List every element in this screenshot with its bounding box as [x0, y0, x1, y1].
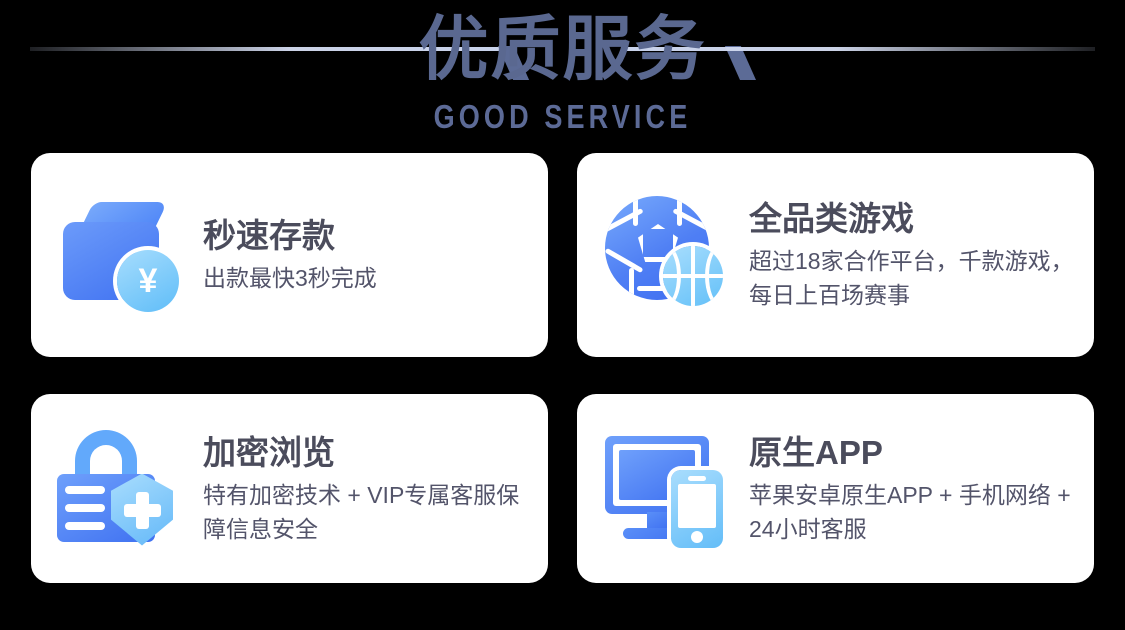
- banner-header: 优质服务 GOOD SERVICE: [0, 0, 1125, 146]
- feature-card-grid: ¥ 秒速存款 出款最快3秒完成: [31, 153, 1094, 583]
- feature-card-text: 秒速存款 出款最快3秒完成: [203, 215, 548, 295]
- card-title: 加密浏览: [203, 432, 534, 474]
- phone-speaker-icon: [688, 476, 706, 481]
- page-subtitle: GOOD SERVICE: [101, 98, 1024, 136]
- shield-cross-icon: [124, 504, 161, 517]
- feature-card-text: 全品类游戏 超过18家合作平台，千款游戏，每日上百场赛事: [749, 198, 1094, 312]
- promo-banner: 优质服务 GOOD SERVICE ¥ 秒速存款 出款最快3秒完成: [0, 0, 1125, 630]
- yuan-symbol: ¥: [139, 264, 158, 298]
- card-subtitle: 特有加密技术 + VIP专属客服保障信息安全: [203, 478, 534, 546]
- phone-home-button-icon: [691, 531, 703, 543]
- soccer-basketball-icon: [599, 190, 749, 320]
- yuan-coin-icon: ¥: [117, 250, 179, 312]
- card-title: 全品类游戏: [749, 198, 1080, 240]
- feature-card-all-games[interactable]: 全品类游戏 超过18家合作平台，千款游戏，每日上百场赛事: [577, 153, 1094, 357]
- card-subtitle: 苹果安卓原生APP + 手机网络 + 24小时客服: [749, 478, 1080, 546]
- monitor-stand-icon: [647, 512, 667, 530]
- phone-screen-icon: [678, 484, 716, 528]
- wallet-coin-icon: ¥: [53, 190, 203, 320]
- card-subtitle: 超过18家合作平台，千款游戏，每日上百场赛事: [749, 244, 1080, 312]
- monitor-phone-icon: [599, 424, 749, 554]
- feature-card-text: 原生APP 苹果安卓原生APP + 手机网络 + 24小时客服: [749, 432, 1094, 546]
- card-title: 秒速存款: [203, 215, 534, 257]
- basketball-icon: [663, 246, 723, 306]
- page-title: 优质服务: [0, 6, 1125, 92]
- lock-slot-icon: [65, 522, 105, 530]
- lock-slot-icon: [65, 504, 105, 512]
- feature-card-encrypted-browsing[interactable]: 加密浏览 特有加密技术 + VIP专属客服保障信息安全: [31, 394, 548, 583]
- lock-shield-icon: [53, 424, 203, 554]
- card-title: 原生APP: [749, 432, 1080, 474]
- card-subtitle: 出款最快3秒完成: [203, 261, 534, 295]
- feature-card-instant-deposit[interactable]: ¥ 秒速存款 出款最快3秒完成: [31, 153, 548, 357]
- feature-card-native-app[interactable]: 原生APP 苹果安卓原生APP + 手机网络 + 24小时客服: [577, 394, 1094, 583]
- lock-slot-icon: [65, 486, 105, 494]
- feature-card-text: 加密浏览 特有加密技术 + VIP专属客服保障信息安全: [203, 432, 548, 546]
